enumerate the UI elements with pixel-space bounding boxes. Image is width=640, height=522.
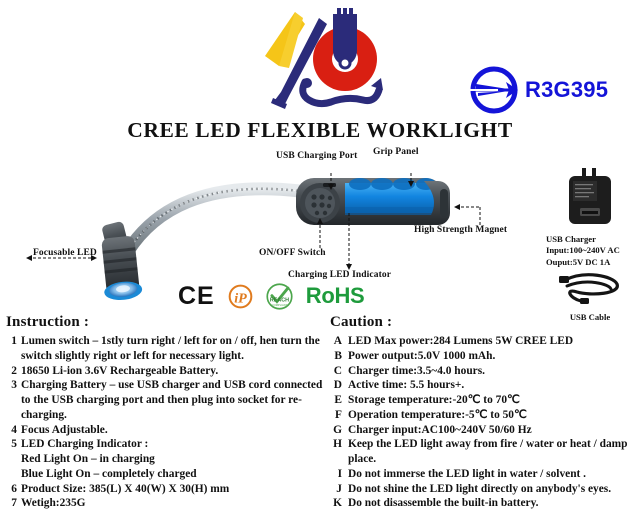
item-marker: 6 [6,482,17,497]
caution-item: A LED Max power:284 Lumens 5W CREE LED [330,334,636,349]
instruction-item: 6 Product Size: 385(L) X 40(W) X 30(H) m… [6,482,328,497]
instruction-item: 2 18650 Li-ion 3.6V Rechargeable Battery… [6,364,328,379]
instruction-item: 3 Charging Battery – use USB charger and… [6,378,328,422]
item-marker: G [330,423,342,438]
item-marker: 1 [6,334,17,349]
item-marker: F [330,408,342,423]
item-text: Wetigh:235G [21,496,328,511]
instruction-heading: Instruction : [6,314,328,331]
charger-input: Input:100~240V AC [546,245,640,256]
item-marker: K [330,496,342,511]
callout-charging-led-indicator: Charging LED Indicator [288,270,391,280]
charger-spec-text: USB Charger Input:100~240V AC Ouput:5V D… [546,234,640,268]
caution-item: J Do not shine the LED light directly on… [330,482,636,497]
callout-focusable-led: Focusable LED [33,248,97,258]
r3g-circle-arrow-icon [468,64,520,116]
callout-usb-charging-port: USB Charging Port [276,151,357,161]
item-text: Active time: 5.5 hours+. [346,378,636,393]
item-marker: 4 [6,423,17,438]
charger-output: Ouput:5V DC 1A [546,257,640,268]
item-text: LED Charging Indicator : [21,437,328,452]
item-text: Do not immerse the LED light in water / … [346,467,636,482]
caution-item: C Charger time:3.5~4.0 hours. [330,364,636,379]
caution-list: A LED Max power:284 Lumens 5W CREE LED B… [330,334,636,511]
caution-item: G Charger input:AC100~240V 50/60 Hz [330,423,636,438]
item-text: LED Max power:284 Lumens 5W CREE LED [346,334,636,349]
caution-heading: Caution : [330,314,636,331]
model-code: R3G395 [525,79,608,101]
usb-cable-icon [551,272,629,306]
item-text: Charger input:AC100~240V 50/60 Hz [346,423,636,438]
instruction-item: 5 LED Charging Indicator : [6,437,328,452]
accessories-block: USB Charger Input:100~240V AC Ouput:5V D… [540,168,640,322]
caution-column: Caution : A LED Max power:284 Lumens 5W … [330,314,636,511]
callout-on-off-switch: ON/OFF Switch [259,248,326,258]
item-text: Charging Battery – use USB charger and U… [21,378,328,422]
item-marker: B [330,349,342,364]
product-spec-sheet: R3G395 CREE LED FLEXIBLE WORKLIGHT [0,0,640,522]
item-text: Focus Adjustable. [21,423,328,438]
page-title: CREE LED FLEXIBLE WORKLIGHT [0,118,640,143]
instruction-item: 4 Focus Adjustable. [6,423,328,438]
item-marker: I [330,467,342,482]
item-marker: J [330,482,342,497]
item-text: 18650 Li-ion 3.6V Rechargeable Battery. [21,364,328,379]
instruction-list: 1 Lumen switch – 1stly turn right / left… [6,334,328,452]
certification-marks: CE iP REACH COMPLIANT RoHS [178,281,364,311]
item-text: Do not shine the LED light directly on a… [346,482,636,497]
item-text: Keep the LED light away from fire / wate… [346,437,636,467]
item-text: Product Size: 385(L) X 40(W) X 30(H) mm [21,482,328,497]
caution-item: D Active time: 5.5 hours+. [330,378,636,393]
item-marker: 2 [6,364,17,379]
indicator-blue-line: Blue Light On – completely charged [6,467,328,482]
instruction-item: 1 Lumen switch – 1stly turn right / left… [6,334,328,364]
caution-item: H Keep the LED light away from fire / wa… [330,437,636,467]
caution-item: B Power output:5.0V 1000 mAh. [330,349,636,364]
item-marker: D [330,378,342,393]
instruction-list-tail: 6 Product Size: 385(L) X 40(W) X 30(H) m… [6,482,328,512]
item-text: Charger time:3.5~4.0 hours. [346,364,636,379]
reach-mark-icon: REACH COMPLIANT [266,283,293,310]
item-marker: 5 [6,437,17,452]
item-text: Power output:5.0V 1000 mAh. [346,349,636,364]
rohs-mark-icon: RoHS [306,285,365,307]
item-marker: 7 [6,496,17,511]
charger-title: USB Charger [546,234,640,245]
caution-item: K Do not disassemble the built-in batter… [330,496,636,511]
caution-item: E Storage temperature:-20℃ to 70℃ [330,393,636,408]
indicator-red-line: Red Light On – in charging [6,452,328,467]
caution-item: I Do not immerse the LED light in water … [330,467,636,482]
item-text: Storage temperature:-20℃ to 70℃ [346,393,636,408]
svg-text:COMPLIANT: COMPLIANT [271,302,287,306]
item-marker: A [330,334,342,349]
item-marker: 3 [6,378,17,393]
callout-grip-panel: Grip Panel [373,147,419,157]
caution-item: F Operation temperature:-5℃ to 50℃ [330,408,636,423]
ip-mark-icon: iP [228,284,253,309]
item-text: Lumen switch – 1stly turn right / left f… [21,334,328,364]
worklight-brand-logo-icon [255,4,387,116]
callout-high-strength-magnet: High Strength Magnet [414,225,507,235]
svg-text:iP: iP [234,290,247,306]
item-marker: C [330,364,342,379]
item-text: Do not disassemble the built-in battery. [346,496,636,511]
model-logo: R3G395 [468,64,618,116]
usb-charger-icon [563,168,617,226]
instruction-column: Instruction : 1 Lumen switch – 1stly tur… [6,314,328,511]
ce-mark-icon: CE [178,284,215,309]
item-text: Operation temperature:-5℃ to 50℃ [346,408,636,423]
item-marker: E [330,393,342,408]
item-marker: H [330,437,342,452]
svg-text:REACH: REACH [270,297,289,303]
instruction-item: 7 Wetigh:235G [6,496,328,511]
